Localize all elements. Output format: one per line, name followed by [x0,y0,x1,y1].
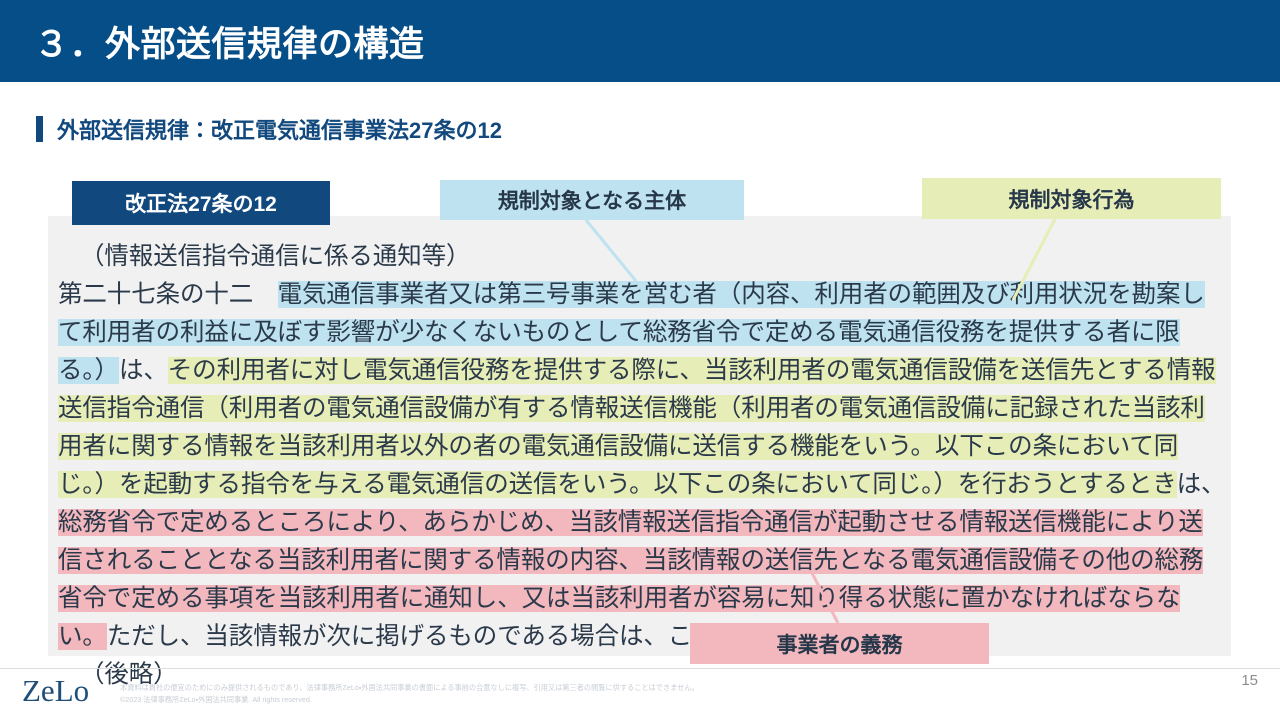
statute-quote-text: （情報送信指令通信に係る通知等） 第二十七条の十二 電気通信事業者又は第三号事業… [58,238,1226,694]
zelo-logo: ZeLo [22,673,89,709]
section-heading: 外部送信規律：改正電気通信事業法27条の12 [36,113,502,145]
footer-disclaimer-line: 本資料は貴社の便宜のためにのみ提供されるものであり、法律事務所ZeLo・外国法共… [120,682,840,694]
highlight-regulated-act: その利用者に対し電気通信役務を提供する際に、当該利用者の電気通信設備を送信先とす… [58,357,1216,498]
quote-connector-1: は、 [119,357,168,384]
quote-body: 第二十七条の十二 電気通信事業者又は第三号事業を営む者（内容、利用者の範囲及び利… [58,276,1226,656]
section-bar-icon [36,116,43,142]
footer-divider [0,668,1280,669]
page-title: ３．外部送信規律の構造 [34,16,425,67]
section-heading-label: 外部送信規律：改正電気通信事業法27条の12 [57,113,502,145]
footer-disclaimer: 本資料は貴社の便宜のためにのみ提供されるものであり、法律事務所ZeLo・外国法共… [120,682,840,706]
callout-operator-duty: 事業者の義務 [690,623,989,664]
quote-heading: （情報送信指令通信に係る通知等） [58,238,1226,276]
footer-copyright-line: ©2023 法律事務所ZeLo・外国法共同事業. All rights rese… [120,694,840,706]
quote-article-number: 第二十七条の十二 [58,281,278,308]
callout-law-reference: 改正法27条の12 [72,181,330,225]
quote-connector-2: は、 [1177,471,1226,498]
callout-regulated-act: 規制対象行為 [922,178,1221,219]
page-number: 15 [1241,672,1258,689]
callout-regulated-subject: 規制対象となる主体 [440,180,744,220]
